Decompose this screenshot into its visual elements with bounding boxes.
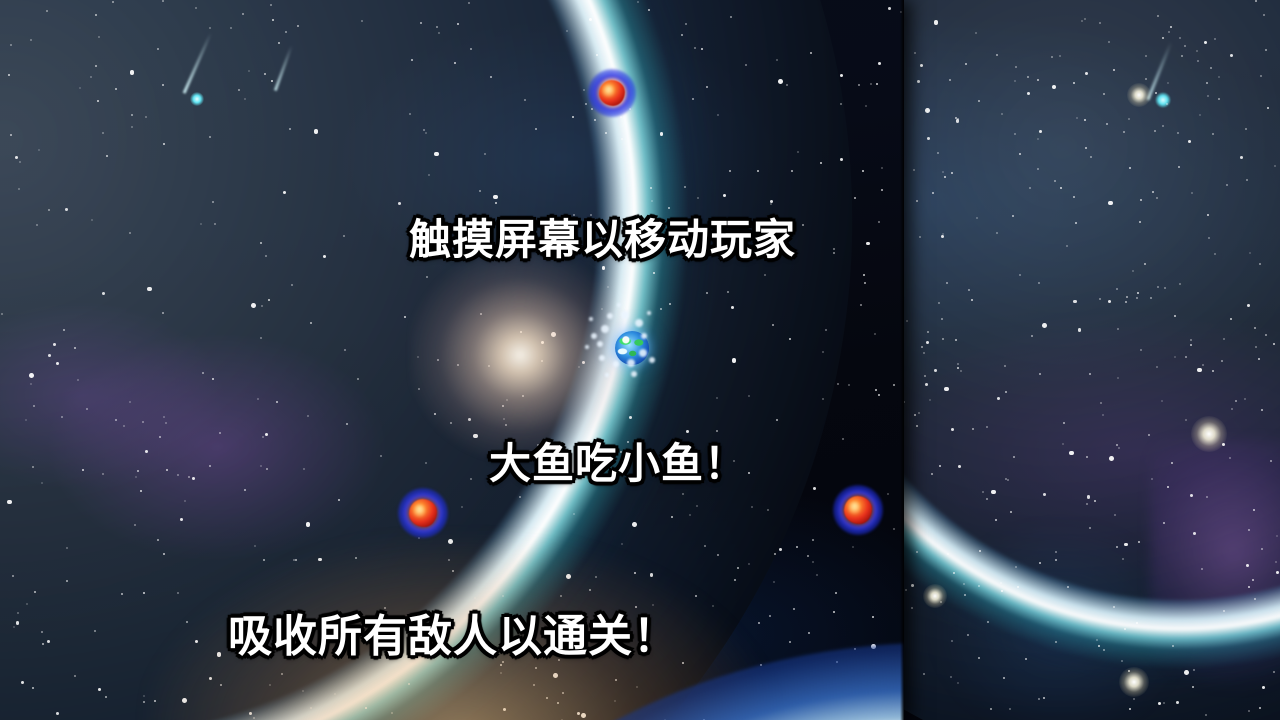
star (812, 539, 814, 541)
player-particle (617, 303, 621, 307)
star (793, 608, 795, 610)
backdrop-bright-star (1155, 92, 1171, 108)
star (866, 242, 869, 245)
tip-absorb-all: 吸收所有敌人以通关！ (228, 600, 678, 664)
player-particle (621, 311, 629, 319)
player-particle (631, 371, 637, 377)
player-particle (589, 317, 593, 321)
star (878, 221, 880, 223)
player-particle (597, 341, 603, 347)
star (816, 574, 818, 576)
cyan-star (190, 92, 204, 106)
player-particle (591, 333, 597, 339)
star (893, 384, 895, 386)
star (863, 274, 865, 276)
player-particle (647, 311, 651, 315)
enemy-spark (602, 82, 614, 98)
star (842, 438, 844, 440)
enemy-spark (413, 502, 426, 519)
bright-star (1119, 667, 1149, 697)
star (876, 83, 878, 85)
enemy-spark (848, 499, 861, 516)
player-particle (607, 313, 613, 319)
enemy-right[interactable] (833, 485, 883, 535)
player-particle (601, 325, 609, 333)
star (807, 555, 809, 557)
player-particle (599, 355, 605, 361)
player-particle (641, 333, 647, 339)
star (881, 189, 883, 191)
star (835, 592, 837, 594)
player-planet[interactable] (612, 328, 652, 368)
bright-star (1191, 416, 1227, 452)
star (833, 611, 835, 613)
tip-move-player: 触摸屏幕以移动玩家 (409, 206, 796, 267)
star (852, 546, 854, 548)
player-particle (627, 359, 635, 367)
star (773, 581, 775, 583)
game-screen: 触摸屏幕以移动玩家 大鱼吃小鱼！ 吸收所有敌人以通关！ (0, 0, 1280, 720)
star (870, 83, 872, 85)
star (887, 493, 889, 495)
star (875, 389, 877, 391)
star (812, 561, 814, 563)
player-particle (635, 319, 643, 327)
player-particle (613, 361, 619, 367)
star (862, 170, 864, 172)
star (864, 282, 866, 284)
player-particle (585, 345, 589, 349)
player-particle (649, 357, 655, 363)
star (888, 7, 891, 10)
star (848, 384, 850, 386)
gameplay-panel[interactable]: 触摸屏幕以移动玩家 大鱼吃小鱼！ 吸收所有敌人以通关！ (0, 0, 904, 720)
player-particle (605, 373, 609, 377)
star (813, 487, 816, 490)
star (893, 528, 895, 530)
star (789, 641, 791, 643)
star (865, 105, 867, 107)
tip-big-eats-small: 大鱼吃小鱼！ (489, 430, 747, 491)
player-particle (639, 349, 647, 357)
enemy-top[interactable] (588, 69, 636, 117)
star (796, 546, 798, 548)
enemy-bottom[interactable] (398, 488, 448, 538)
star (872, 616, 874, 618)
star (860, 304, 862, 306)
star (874, 333, 876, 335)
star (881, 167, 883, 169)
star (858, 84, 860, 86)
star (878, 62, 881, 65)
star (900, 11, 902, 13)
star (878, 394, 880, 396)
star (808, 632, 810, 634)
bright-star (923, 584, 947, 608)
bright-star (1127, 83, 1151, 107)
central-star-glow (410, 250, 630, 460)
